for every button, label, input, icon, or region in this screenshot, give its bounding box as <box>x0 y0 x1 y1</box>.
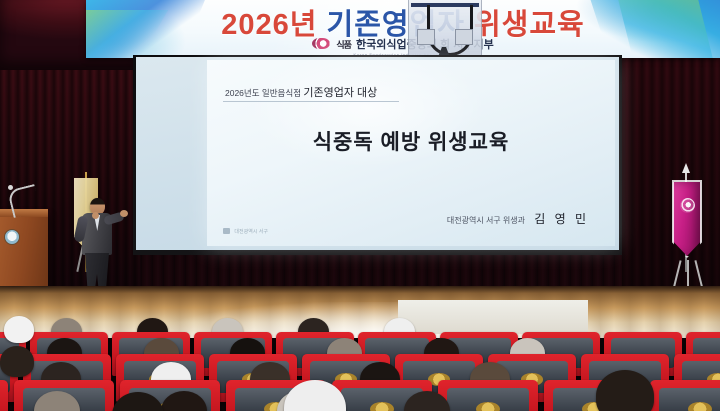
auditorium-scene: 2026년 기존영업자 위생교육 식품 한국외식업중앙회 회 서구지부 Kore… <box>0 0 720 411</box>
audience-member-head-foreground <box>4 316 34 343</box>
audience-seating <box>0 300 720 411</box>
flag-trim-right <box>672 180 702 258</box>
presenter-hand-left <box>92 212 99 219</box>
microphone-head-icon <box>8 185 13 190</box>
projector-lens-right <box>455 29 473 45</box>
lectern <box>0 213 48 289</box>
presenter-hand-right <box>120 210 128 217</box>
projector-lens-left <box>417 29 435 45</box>
slide-title: 식중독 예방 위생교육 <box>207 126 615 156</box>
audience-seat <box>650 380 720 411</box>
audience-seat <box>0 380 8 411</box>
presenter-figure <box>74 198 122 290</box>
slide-kicker: 2026년도 일반음식점 기존영업자 대상 <box>225 84 377 100</box>
audience-member-head-foreground <box>0 346 34 377</box>
district-logo-icon <box>223 228 230 234</box>
seat-emblem-icon <box>688 402 712 411</box>
presentation-slide: 2026년도 일반음식점 기존영업자 대상 식중독 예방 위생교육 대전광역시 … <box>207 60 615 246</box>
presenter-name: 김 영 민 <box>534 212 589 226</box>
lectern-emblem-icon <box>4 229 20 245</box>
flag-emblem-icon <box>680 198 695 213</box>
presenter-legs <box>85 253 109 288</box>
seat-emblem-icon <box>370 402 394 411</box>
slide-kicker-small: 2026년도 일반음식점 <box>225 88 301 98</box>
audience-seat <box>438 380 538 411</box>
slide-presenter: 대전광역시 서구 위생과 김 영 민 <box>207 210 615 227</box>
organization-flag-right <box>666 168 708 290</box>
slide-divider <box>223 101 399 102</box>
presenter-affiliation: 대전광역시 서구 위생과 <box>447 216 525 225</box>
slide-footer-logo: 대전광역시 서구 <box>223 228 268 235</box>
slide-kicker-large: 기존영업자 대상 <box>303 87 377 99</box>
slide-footer-logo-text: 대전광역시 서구 <box>234 229 268 235</box>
seat-emblem-icon <box>476 402 500 411</box>
